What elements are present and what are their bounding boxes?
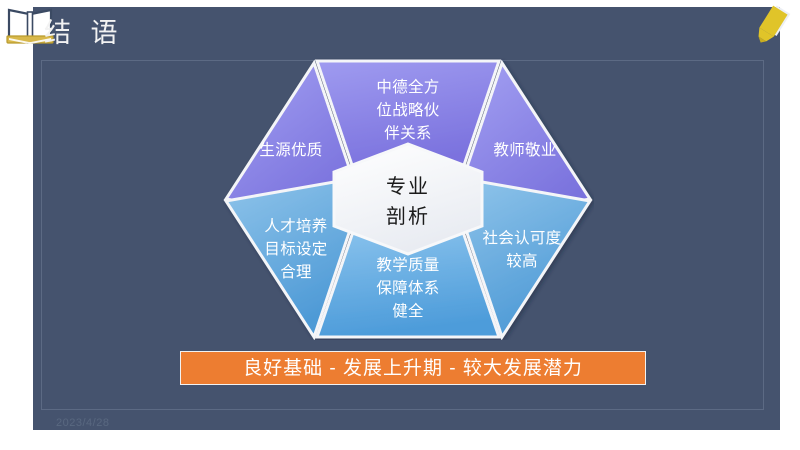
svg-text:中德全方: 中德全方 <box>376 78 439 96</box>
svg-text:生源优质: 生源优质 <box>259 141 322 159</box>
hex-segment-upper-left-label: 生源优质 <box>259 141 322 159</box>
svg-text:专业: 专业 <box>386 175 430 198</box>
svg-text:人才培养: 人才培养 <box>264 217 327 235</box>
svg-text:伴关系: 伴关系 <box>384 124 431 142</box>
svg-text:健全: 健全 <box>392 302 424 320</box>
svg-text:合理: 合理 <box>280 263 312 281</box>
hex-segment-upper-right-label: 教师敬业 <box>493 141 556 159</box>
svg-text:社会认可度: 社会认可度 <box>482 229 561 247</box>
svg-text:保障体系: 保障体系 <box>376 279 439 297</box>
pencil-icon <box>752 3 796 47</box>
slide-canvas: 结 语 <box>0 0 800 450</box>
svg-text:剖析: 剖析 <box>386 205 430 228</box>
svg-text:位战略伙: 位战略伙 <box>376 101 439 119</box>
hex-segment-top-label: 中德全方 位战略伙 伴关系 <box>376 78 439 142</box>
conclusion-banner: 良好基础 - 发展上升期 - 较大发展潜力 <box>180 351 646 385</box>
page-title: 结 语 <box>44 20 124 47</box>
svg-text:教学质量: 教学质量 <box>376 256 439 274</box>
hexagon-diagram: 中德全方 位战略伙 伴关系 生源优质 教师敬业 人才培养 目标设定 合理 社会认… <box>222 58 594 340</box>
conclusion-banner-text: 良好基础 - 发展上升期 - 较大发展潜力 <box>243 359 583 378</box>
svg-text:较高: 较高 <box>506 252 538 270</box>
svg-text:目标设定: 目标设定 <box>264 240 327 258</box>
footer-date: 2023/4/28 <box>56 418 109 429</box>
svg-text:教师敬业: 教师敬业 <box>493 141 556 159</box>
